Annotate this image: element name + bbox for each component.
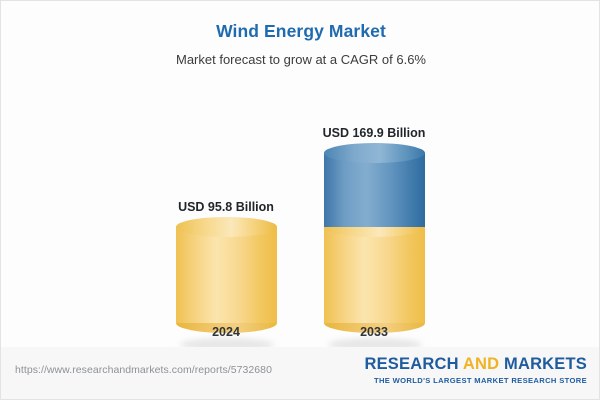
chart-plot-area: USD 95.8 Billion 2024 USD 169.9 Billion bbox=[1, 87, 600, 347]
chart-header: Wind Energy Market Market forecast to gr… bbox=[1, 1, 600, 87]
cylinder-top-ellipse-icon bbox=[324, 143, 425, 163]
logo-wordmark: RESEARCH AND MARKETS bbox=[364, 355, 587, 374]
market-forecast-card: Wind Energy Market Market forecast to gr… bbox=[0, 0, 600, 400]
cylinder-bar-2024[interactable] bbox=[176, 227, 277, 323]
category-label-2033: 2033 bbox=[304, 325, 444, 339]
cylinder-bar-2033[interactable] bbox=[324, 153, 425, 323]
cylinder-segment-base-2033 bbox=[324, 227, 425, 323]
cylinder-top-ellipse-icon bbox=[176, 217, 277, 237]
logo-text-research: RESEARCH bbox=[364, 355, 462, 373]
cylinder-body bbox=[324, 153, 425, 227]
report-url-link[interactable]: https://www.researchandmarkets.com/repor… bbox=[15, 364, 272, 376]
research-and-markets-logo[interactable]: RESEARCH AND MARKETS THE WORLD'S LARGEST… bbox=[364, 355, 587, 385]
logo-tagline: THE WORLD'S LARGEST MARKET RESEARCH STOR… bbox=[364, 376, 587, 385]
cylinder-body bbox=[324, 227, 425, 323]
logo-text-and: AND bbox=[463, 355, 499, 373]
chart-subtitle: Market forecast to grow at a CAGR of 6.6… bbox=[1, 42, 600, 67]
logo-text-markets: MARKETS bbox=[499, 355, 587, 373]
bar-group-2033: USD 169.9 Billion 2033 bbox=[304, 87, 444, 347]
category-label-2024: 2024 bbox=[156, 325, 296, 339]
cylinder-body bbox=[176, 227, 277, 323]
footer-bar: https://www.researchandmarkets.com/repor… bbox=[1, 347, 600, 399]
cylinder-segment-growth-2033 bbox=[324, 153, 425, 227]
data-label-2033: USD 169.9 Billion bbox=[304, 126, 444, 140]
data-label-2024: USD 95.8 Billion bbox=[156, 200, 296, 214]
cylinder-segment-base-2024 bbox=[176, 227, 277, 323]
page-title: Wind Energy Market bbox=[1, 1, 600, 42]
bar-group-2024: USD 95.8 Billion 2024 bbox=[156, 87, 296, 347]
